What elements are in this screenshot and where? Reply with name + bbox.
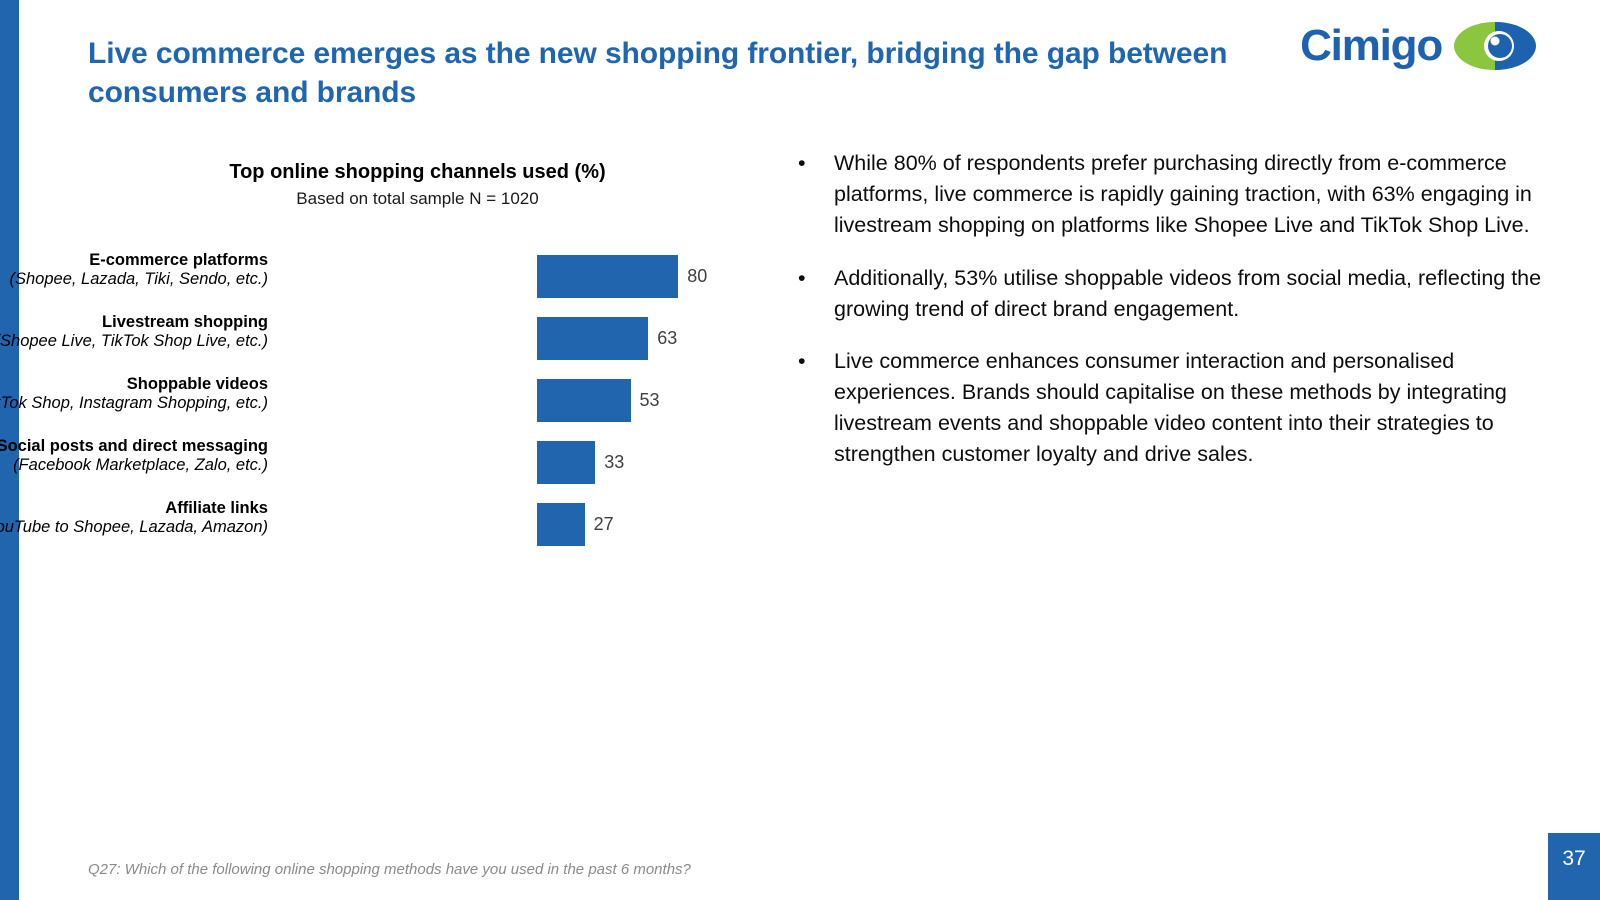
bar-category-label: Livestream shopping (Shopee Live, TikTok… [0, 313, 268, 350]
bar-track: 80 [537, 255, 760, 298]
bullet-marker-icon: • [798, 148, 806, 179]
list-item-text: While 80% of respondents prefer purchasi… [834, 151, 1532, 237]
page-number-badge: 37 [1548, 833, 1600, 900]
bar-category-examples: (Shopee Live, TikTok Shop Live, etc.) [0, 332, 268, 351]
bar-value-label: 53 [631, 379, 660, 422]
bar-fill [537, 503, 585, 546]
list-item: • Additionally, 53% utilise shoppable vi… [792, 263, 1544, 325]
bar-row: Shoppable videos (TikTok Shop, Instagram… [60, 371, 760, 433]
bar-category-label: Shoppable videos (TikTok Shop, Instagram… [0, 375, 268, 412]
slide-canvas: Live commerce emerges as the new shoppin… [0, 0, 1600, 900]
bar-category-name: Livestream shopping [0, 313, 268, 332]
bullet-marker-icon: • [798, 346, 806, 377]
bar-row: Affiliate links (KOL/blog/YouTube to Sho… [60, 495, 760, 557]
bar-list: E-commerce platforms (Shopee, Lazada, Ti… [60, 247, 760, 557]
bar-category-examples: (Facebook Marketplace, Zalo, etc.) [0, 456, 268, 475]
bar-value-label: 63 [648, 317, 677, 360]
list-item: • Live commerce enhances consumer intera… [792, 346, 1544, 471]
logo-wordmark: Cimigo [1300, 24, 1442, 68]
bar-track: 33 [537, 441, 760, 484]
page-title: Live commerce emerges as the new shoppin… [88, 34, 1268, 112]
bar-category-label: Social posts and direct messaging (Faceb… [0, 437, 268, 474]
brand-logo: Cimigo [1300, 20, 1538, 72]
bar-category-examples: (TikTok Shop, Instagram Shopping, etc.) [0, 394, 268, 413]
list-item: • While 80% of respondents prefer purcha… [792, 148, 1544, 242]
question-footnote: Q27: Which of the following online shopp… [88, 861, 691, 878]
bar-track: 63 [537, 317, 760, 360]
bar-value-label: 33 [595, 441, 624, 484]
bar-track: 53 [537, 379, 760, 422]
bar-fill [537, 379, 631, 422]
bar-category-name: Social posts and direct messaging [0, 437, 268, 456]
bar-row: Social posts and direct messaging (Faceb… [60, 433, 760, 495]
bar-category-examples: (Shopee, Lazada, Tiki, Sendo, etc.) [0, 270, 268, 289]
bar-category-label: E-commerce platforms (Shopee, Lazada, Ti… [0, 251, 268, 288]
bar-row: Livestream shopping (Shopee Live, TikTok… [60, 309, 760, 371]
chart-subtitle: Based on total sample N = 1020 [60, 189, 760, 209]
list-item-text: Additionally, 53% utilise shoppable vide… [834, 266, 1541, 321]
cimigo-eye-icon [1452, 20, 1538, 72]
bar-fill [537, 317, 648, 360]
bar-chart: Top online shopping channels used (%) Ba… [60, 160, 760, 557]
bar-track: 27 [537, 503, 760, 546]
insights-list: • While 80% of respondents prefer purcha… [792, 148, 1544, 492]
bar-value-label: 27 [585, 503, 614, 546]
bar-value-label: 80 [678, 255, 707, 298]
chart-title: Top online shopping channels used (%) [60, 160, 760, 184]
bar-category-name: Affiliate links [0, 499, 268, 518]
bar-fill [537, 255, 678, 298]
bar-fill [537, 441, 595, 484]
bullet-marker-icon: • [798, 263, 806, 294]
list-item-text: Live commerce enhances consumer interact… [834, 349, 1507, 467]
bar-category-examples: (KOL/blog/YouTube to Shopee, Lazada, Ama… [0, 518, 268, 537]
bar-category-name: E-commerce platforms [0, 251, 268, 270]
bar-category-label: Affiliate links (KOL/blog/YouTube to Sho… [0, 499, 268, 536]
bar-row: E-commerce platforms (Shopee, Lazada, Ti… [60, 247, 760, 309]
bar-category-name: Shoppable videos [0, 375, 268, 394]
